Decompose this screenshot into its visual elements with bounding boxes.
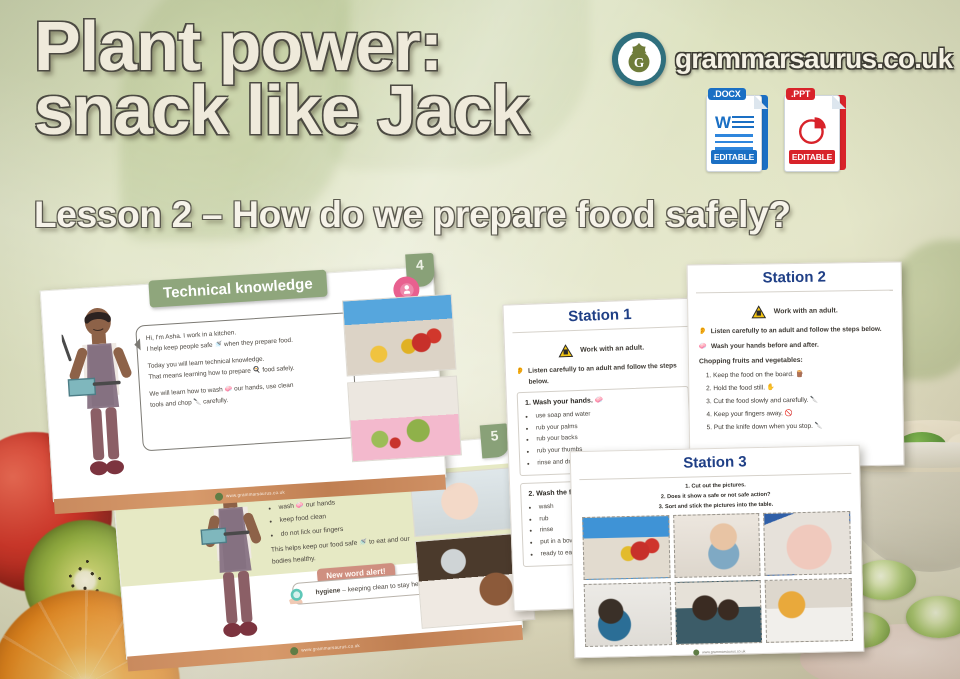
station-2-adult-note-text: Work with an adult. bbox=[774, 305, 838, 317]
station-2-listen-line: 👂 Listen carefully to an adult and follo… bbox=[698, 325, 891, 338]
docx-type-label: .DOCX bbox=[708, 88, 746, 100]
brand-lockup[interactable]: G grammarsaurus.co.uk bbox=[612, 32, 952, 86]
title-line-1: Plant power: bbox=[34, 14, 644, 78]
photo-chopping-cucumber bbox=[347, 376, 462, 463]
slide-4-speech-bubble: Hi, I'm Asha. I work in a kitchen. I hel… bbox=[135, 312, 358, 451]
docx-badge[interactable]: W .DOCX EDITABLE bbox=[706, 88, 768, 170]
picture-card-baking-together[interactable] bbox=[674, 580, 762, 645]
station-1-listen-line: 👂 Listen carefully to an adult and follo… bbox=[516, 361, 689, 388]
footer-logo-icon bbox=[290, 646, 299, 655]
new-word-term: hygiene bbox=[315, 587, 340, 596]
station-1-listen-text: Listen carefully to an adult and follow … bbox=[528, 361, 688, 388]
list-item: Keep the food on the board. 🪵 bbox=[713, 369, 892, 382]
picture-card-washing-hands[interactable] bbox=[584, 582, 672, 647]
station-3-card[interactable]: Station 3 1. Cut out the pictures. 2. Do… bbox=[570, 445, 865, 659]
list-item: Put the knife down when you stop. 🔪 bbox=[714, 420, 893, 433]
station-2-card[interactable]: Station 2 Work with an adult. 👂 Listen c… bbox=[687, 262, 905, 469]
file-format-badges: W .DOCX EDITABLE .PPT EDITABLE bbox=[706, 88, 846, 170]
list-item: Cut the food slowly and carefully. 🔪 bbox=[713, 394, 892, 407]
footer-logo-icon bbox=[693, 650, 699, 656]
station-1-adult-note-text: Work with an adult. bbox=[580, 342, 644, 356]
ppt-type-label: .PPT bbox=[786, 88, 815, 100]
station-2-wash-line: 🧼 Wash your hands before and after. bbox=[699, 339, 892, 352]
station-3-picture-grid bbox=[572, 511, 863, 650]
hygiene-hand-icon bbox=[285, 587, 309, 609]
chef-character-illustration bbox=[60, 300, 145, 486]
ear-icon: 👂 bbox=[698, 327, 706, 338]
soap-icon: 🧼 bbox=[699, 342, 707, 353]
title-line-2: snack like Jack bbox=[34, 78, 644, 142]
page-subtitle: Lesson 2 – How do we prepare food safely… bbox=[34, 194, 934, 236]
station-2-wash-text: Wash your hands before and after. bbox=[711, 340, 819, 352]
station-1-adult-note: Work with an adult. bbox=[515, 340, 687, 359]
picture-card-knife-drawer[interactable] bbox=[765, 578, 853, 643]
slide-5-footer-url: www.grammarsaurus.co.uk bbox=[301, 643, 360, 653]
station-2-section-heading: Chopping fruits and vegetables: bbox=[699, 355, 892, 369]
picture-card-chopping-peppers[interactable] bbox=[582, 515, 670, 580]
station-2-title: Station 2 bbox=[688, 263, 901, 293]
footer-logo-icon bbox=[215, 492, 223, 500]
svg-text:G: G bbox=[634, 55, 644, 70]
banner-header: Plant power: snack like Jack Lesson 2 – … bbox=[0, 0, 960, 250]
grammarsaurus-logo-icon: G bbox=[612, 32, 666, 86]
station-3-footer-url: www.grammarsaurus.co.uk bbox=[702, 650, 745, 655]
warning-triangle-icon bbox=[752, 305, 767, 318]
slide-5-page-number: 5 bbox=[480, 423, 511, 458]
picture-card-dirty-hand[interactable] bbox=[763, 511, 851, 576]
word-lines-icon bbox=[732, 116, 754, 131]
ear-icon: 👂 bbox=[516, 367, 525, 378]
list-item: Hold the food still. ✋ bbox=[713, 382, 892, 395]
page-title: Plant power: snack like Jack bbox=[34, 14, 644, 143]
picture-card-licking-fingers[interactable] bbox=[673, 513, 761, 578]
warning-triangle-icon bbox=[558, 344, 573, 358]
ppt-editable-label: EDITABLE bbox=[789, 150, 835, 164]
slide-thumbnail-4[interactable]: 4 Technical knowledge Technical knowledg… bbox=[40, 266, 447, 502]
station-2-steps: Keep the food on the board. 🪵 Hold the f… bbox=[699, 369, 893, 434]
word-w-icon: W bbox=[715, 114, 731, 131]
pie-chart-icon bbox=[797, 114, 829, 146]
list-item: Keep your fingers away. 🚫 bbox=[714, 407, 893, 420]
station-2-listen-text: Listen carefully to an adult and follow … bbox=[711, 325, 882, 338]
docx-editable-label: EDITABLE bbox=[711, 150, 757, 164]
photo-chopping-peppers bbox=[342, 294, 457, 377]
station-2-adult-note: Work with an adult. bbox=[698, 304, 891, 320]
brand-name: grammarsaurus.co.uk bbox=[675, 43, 952, 75]
slide-4-footer-url: www.grammarsaurus.co.uk bbox=[226, 490, 285, 499]
ppt-badge[interactable]: .PPT EDITABLE bbox=[784, 88, 846, 170]
lesson-preview-banner: Plant power: snack like Jack Lesson 2 – … bbox=[0, 0, 960, 679]
